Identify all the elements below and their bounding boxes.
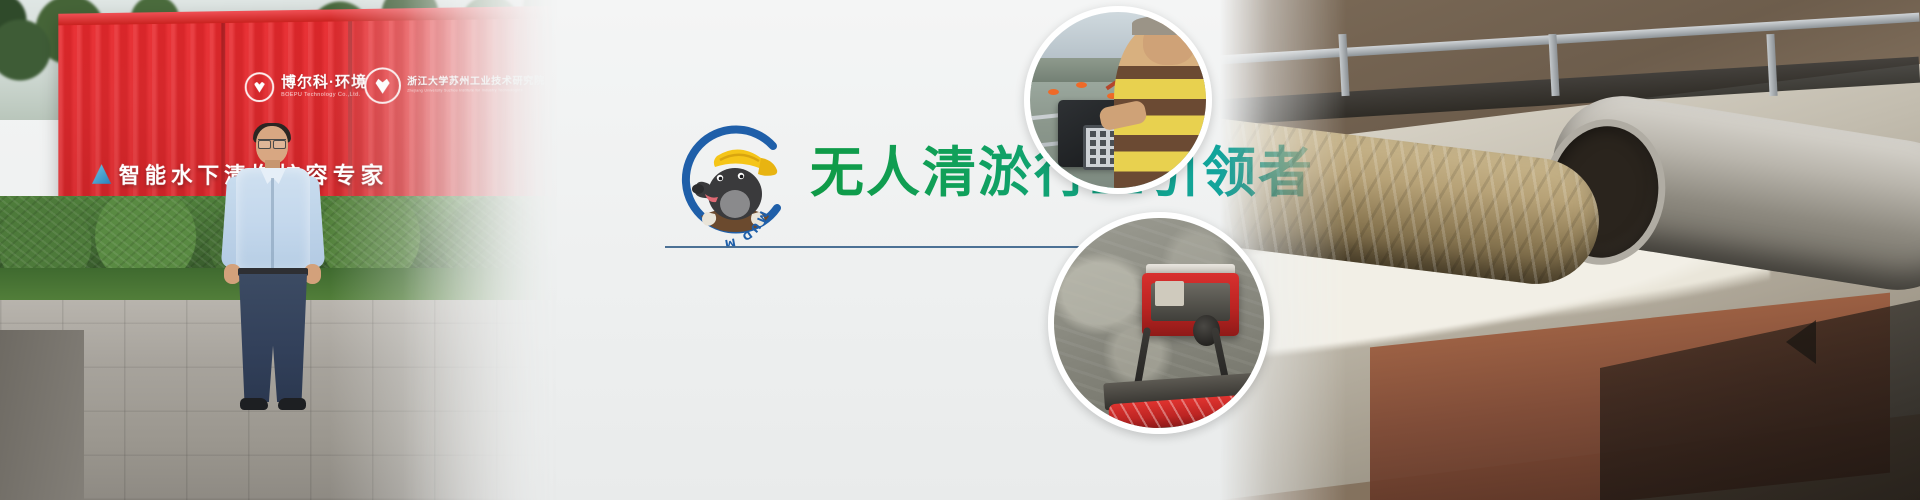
hero-banner: 博尔科·环境 BOEPU Technology Co.,Ltd. 浙江大学苏州工… <box>0 0 1920 500</box>
boepu-logo-icon <box>245 72 274 102</box>
figure-trousers <box>239 274 307 402</box>
left-photo-fade <box>330 0 560 500</box>
figure-shoe-right <box>278 398 306 410</box>
left-kerb <box>0 330 84 500</box>
figure-shoe-left <box>240 398 268 410</box>
operator-cap <box>1132 16 1202 35</box>
dredger-deck-plate <box>1155 281 1184 306</box>
arrow-shape <box>1786 320 1816 364</box>
water-drop-icon <box>92 164 111 184</box>
operator-control-photo <box>1024 6 1212 194</box>
operator-scene <box>1030 12 1206 188</box>
mud-mole-logo: MUD MOLE <box>665 112 805 252</box>
dredger-scene <box>1054 218 1264 428</box>
container-site-photo: 博尔科·环境 BOEPU Technology Co.,Ltd. 浙江大学苏州工… <box>0 0 560 500</box>
dredging-robot-photo <box>1048 212 1270 434</box>
mud-mole-logo-icon: MUD MOLE <box>665 112 805 252</box>
slurry-discharge-photo <box>1220 0 1920 500</box>
figure-shirt-placket <box>271 178 274 268</box>
figure-glasses <box>258 139 286 147</box>
engineer-figure <box>216 126 332 426</box>
